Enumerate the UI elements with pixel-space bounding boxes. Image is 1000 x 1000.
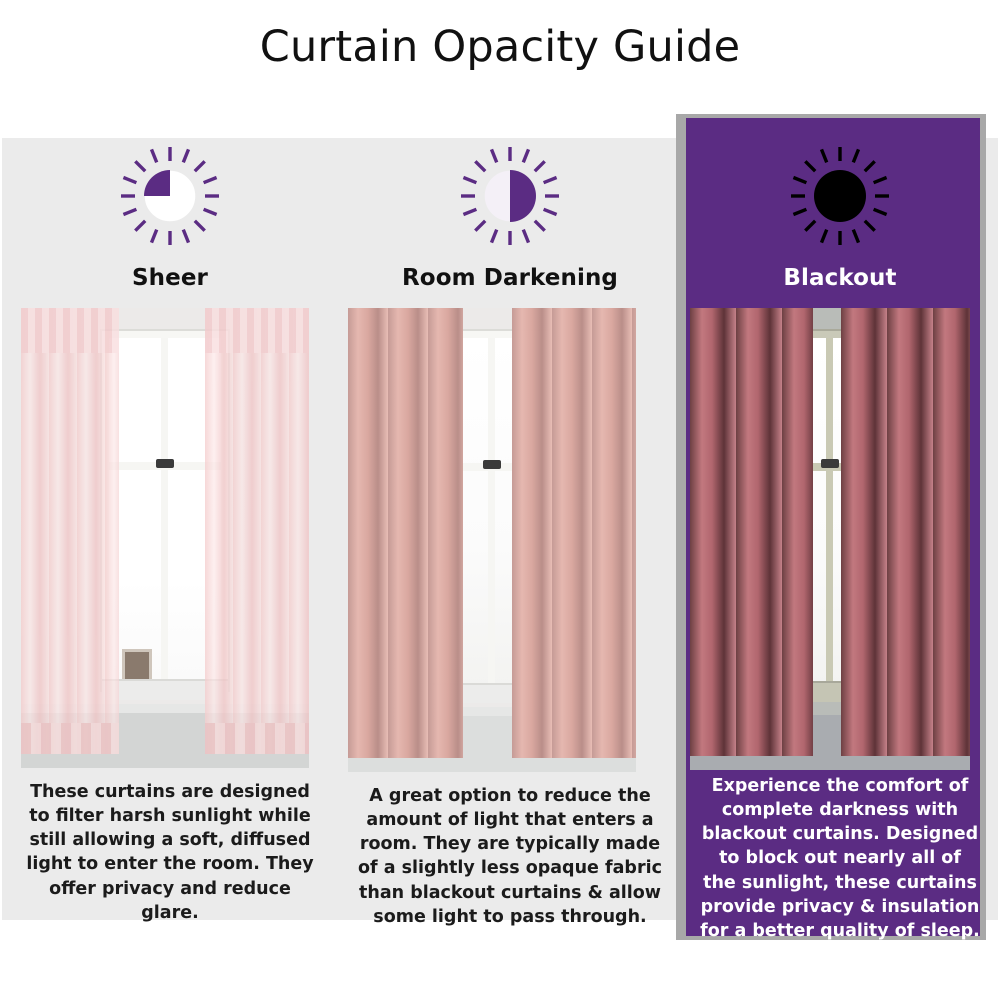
sheer-icon-wrap [0, 144, 340, 264]
sun-full-filled-icon [788, 144, 892, 248]
type-label-room-darkening: Room Darkening [340, 265, 680, 291]
page-title: Curtain Opacity Guide [0, 22, 1000, 72]
sun-half-filled-icon [458, 144, 562, 248]
description-room-darkening: A great option to reduce the amount of l… [340, 784, 680, 929]
description-sheer: These curtains are designed to filter ha… [0, 780, 340, 925]
curtain-panel-right [512, 308, 636, 758]
description-blackout: Experience the comfort of complete darkn… [680, 774, 1000, 943]
type-label-blackout: Blackout [680, 265, 1000, 291]
curtain-panel-left [690, 308, 813, 756]
blackout-icon-wrap [680, 144, 1000, 264]
opacity-card-sheer[interactable]: Sheer [0, 138, 340, 948]
room-darkening-room-scene [348, 308, 636, 772]
sun-quarter-filled-icon [118, 144, 222, 248]
curtain-header-tape [205, 308, 309, 353]
opacity-card-blackout[interactable]: Blackout [680, 138, 1000, 948]
curtain-photo-blackout [690, 308, 970, 770]
curtain-photo-room-darkening [348, 308, 636, 772]
curtain-hem [21, 723, 119, 754]
opacity-card-room-darkening[interactable]: Room Darkening [340, 138, 680, 948]
sheer-curtain-panels [21, 308, 309, 768]
curtain-panel-left [348, 308, 463, 758]
type-label-sheer: Sheer [0, 265, 340, 291]
curtain-panel-left [21, 308, 119, 754]
curtain-photo-sheer [21, 308, 309, 768]
curtain-opacity-guide-page: Curtain Opacity Guide [0, 0, 1000, 1000]
curtain-panel-right [205, 308, 309, 754]
curtain-header-tape [21, 308, 119, 353]
room-darkening-icon-wrap [340, 144, 680, 264]
blackout-room-scene [690, 308, 970, 770]
blackout-curtain-panels [690, 308, 970, 770]
room-darkening-curtain-panels [348, 308, 636, 772]
curtain-hem [205, 723, 309, 754]
opacity-columns: Sheer [0, 138, 1000, 948]
curtain-panel-right [841, 308, 970, 756]
sheer-room-scene [21, 308, 309, 768]
